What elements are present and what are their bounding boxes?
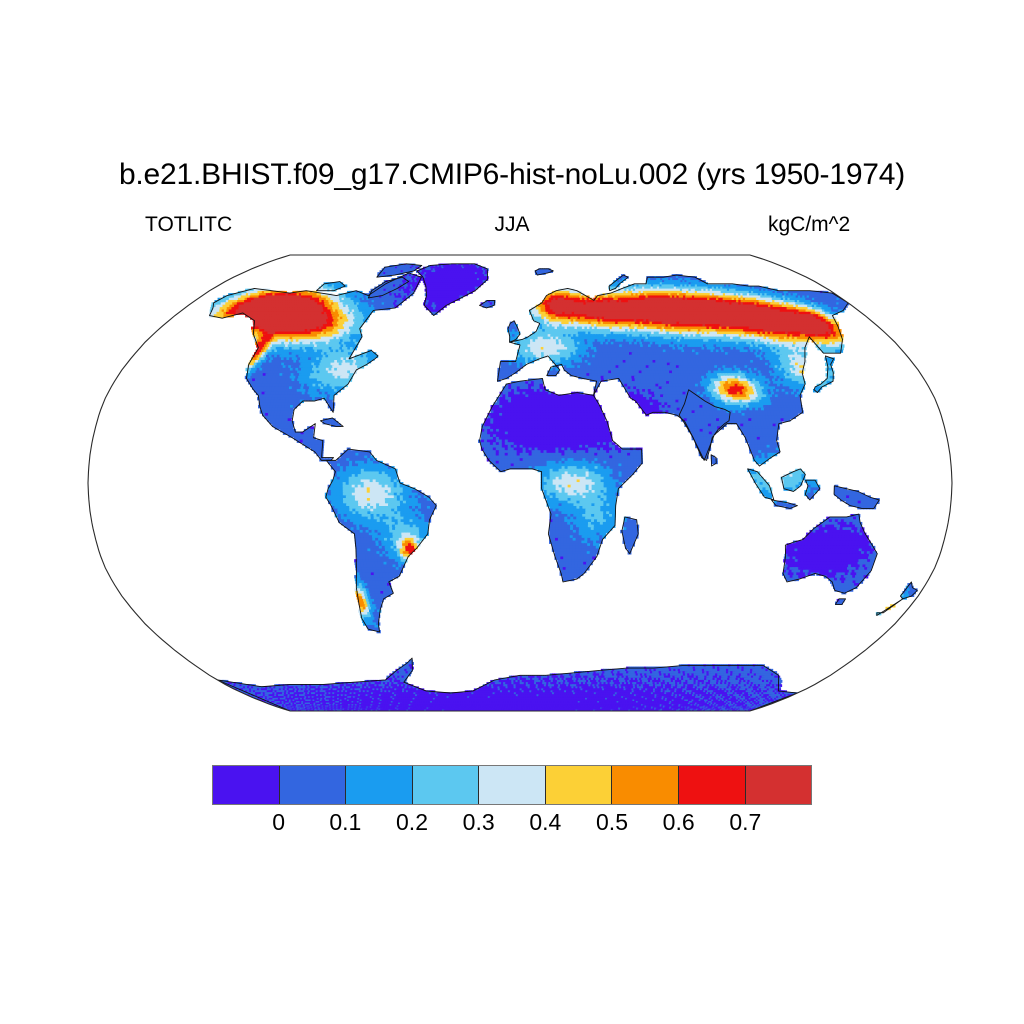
colorbar[interactable] — [212, 765, 812, 805]
colorbar-swatch-0[interactable] — [213, 766, 280, 804]
figure-title: b.e21.BHIST.f09_g17.CMIP6-hist-noLu.002 … — [0, 158, 1024, 192]
colorbar-tick-4: 0.4 — [529, 808, 561, 836]
colorbar-swatch-1[interactable] — [280, 766, 347, 804]
colorbar-tick-2: 0.2 — [396, 808, 428, 836]
colorbar-tick-3: 0.3 — [463, 808, 495, 836]
colorbar-tick-0: 0 — [272, 808, 285, 836]
colorbar-tick-7: 0.7 — [729, 808, 761, 836]
colorbar-tick-labels: 00.10.20.30.40.50.60.7 — [212, 808, 812, 842]
world-map — [40, 245, 1000, 725]
colorbar-tick-5: 0.5 — [596, 808, 628, 836]
colorbar-swatch-6[interactable] — [612, 766, 679, 804]
map-data-layer — [40, 245, 1000, 725]
colorbar-swatch-3[interactable] — [413, 766, 480, 804]
colorbar-swatch-8[interactable] — [746, 766, 812, 804]
season-label: JJA — [0, 213, 1024, 237]
colorbar-swatch-2[interactable] — [346, 766, 413, 804]
colorbar-tick-1: 0.1 — [329, 808, 361, 836]
colorbar-tick-6: 0.6 — [663, 808, 695, 836]
map-panel — [40, 245, 1000, 725]
colorbar-swatch-4[interactable] — [479, 766, 546, 804]
colorbar-swatch-7[interactable] — [679, 766, 746, 804]
figure-canvas: b.e21.BHIST.f09_g17.CMIP6-hist-noLu.002 … — [0, 0, 1024, 1024]
units-label: kgC/m^2 — [768, 213, 850, 237]
colorbar-swatch-5[interactable] — [546, 766, 613, 804]
